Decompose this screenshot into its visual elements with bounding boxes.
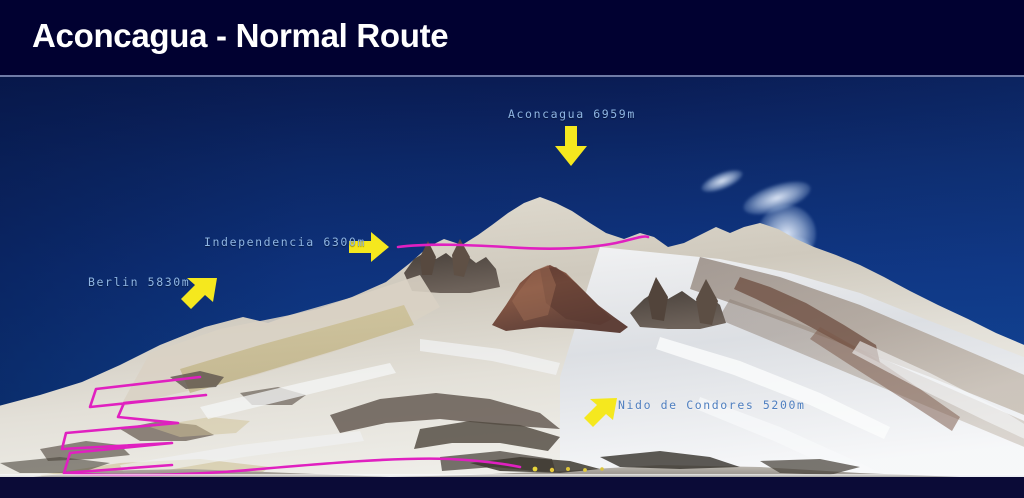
label-independencia: Independencia 6300m bbox=[204, 235, 366, 249]
page-title: Aconcagua - Normal Route bbox=[32, 17, 448, 55]
route-switchbacks bbox=[62, 377, 206, 473]
arrow-down-summit bbox=[553, 126, 589, 168]
label-aconcagua: Aconcagua 6959m bbox=[508, 107, 636, 121]
route-upper-traverse bbox=[398, 236, 648, 248]
footer-band bbox=[0, 477, 1024, 498]
header-band: Aconcagua - Normal Route bbox=[0, 0, 1024, 75]
arrow-downleft-nido bbox=[581, 396, 619, 432]
mountain-photo: Aconcagua 6959m Independencia 6300m Berl… bbox=[0, 77, 1024, 477]
label-berlin: Berlin 5830m bbox=[88, 275, 190, 289]
label-nido-de-condores: Nido de Condores 5200m bbox=[618, 398, 806, 412]
screenshot-root: Aconcagua - Normal Route bbox=[0, 0, 1024, 498]
